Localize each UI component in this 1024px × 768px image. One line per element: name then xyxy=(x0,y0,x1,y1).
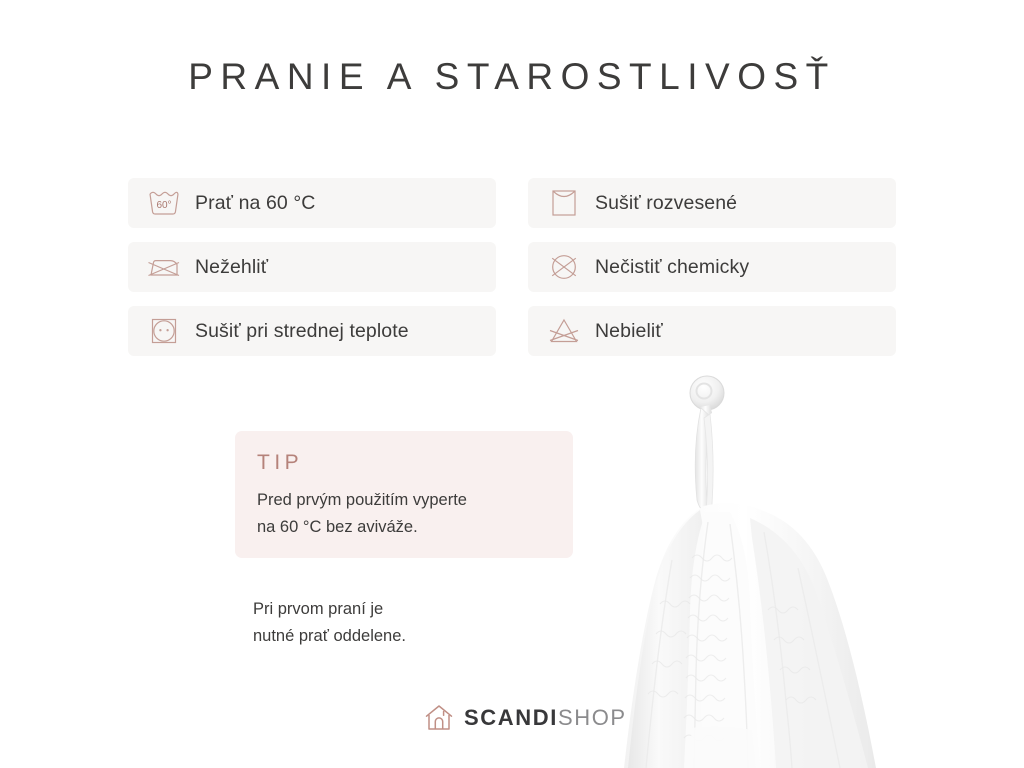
page-title: PRANIE A STAROSTLIVOSŤ xyxy=(0,56,1024,98)
wash-60-icon: 60° xyxy=(145,187,183,219)
logo-text-primary: SCANDI xyxy=(464,705,558,730)
house-icon xyxy=(424,703,454,733)
tip-text-line-2: na 60 °C bez aviváže. xyxy=(257,514,551,541)
care-item-label: Nebieliť xyxy=(595,320,663,343)
note-line-1: Pri prvom praní je xyxy=(253,596,406,623)
care-item-label: Sušiť pri strednej teplote xyxy=(195,320,409,343)
care-item-do-not-bleach: Nebieliť xyxy=(528,306,896,356)
brand-logo: SCANDISHOP xyxy=(424,703,627,733)
note-line-2: nutné prať oddelene. xyxy=(253,623,406,650)
do-not-bleach-icon xyxy=(545,315,583,347)
line-dry-icon xyxy=(545,187,583,219)
care-item-label: Nežehliť xyxy=(195,256,268,279)
care-instructions-grid: 60° Prať na 60 °C Sušiť rozvesené xyxy=(128,178,896,356)
care-instructions-infographic: PRANIE A STAROSTLIVOSŤ 60° Prať na 60 °C xyxy=(0,0,1024,768)
do-not-iron-icon xyxy=(145,251,183,283)
care-item-label: Nečistiť chemicky xyxy=(595,256,749,279)
logo-wordmark: SCANDISHOP xyxy=(464,705,627,731)
towel-product-photo xyxy=(600,372,900,768)
tumble-dry-medium-icon xyxy=(145,315,183,347)
care-item-wash-60: 60° Prať na 60 °C xyxy=(128,178,496,228)
note-block: Pri prvom praní je nutné prať oddelene. xyxy=(253,596,406,650)
wash-temperature-text: 60° xyxy=(156,200,171,211)
care-item-do-not-dryclean: Nečistiť chemicky xyxy=(528,242,896,292)
care-item-line-dry: Sušiť rozvesené xyxy=(528,178,896,228)
care-item-do-not-iron: Nežehliť xyxy=(128,242,496,292)
care-item-label: Prať na 60 °C xyxy=(195,192,315,215)
tip-callout-box: TIP Pred prvým použitím vyperte na 60 °C… xyxy=(235,431,573,558)
care-item-tumble-dry-medium: Sušiť pri strednej teplote xyxy=(128,306,496,356)
do-not-dryclean-icon xyxy=(545,251,583,283)
care-item-label: Sušiť rozvesené xyxy=(595,192,737,215)
tip-text-line-1: Pred prvým použitím vyperte xyxy=(257,487,551,514)
logo-text-secondary: SHOP xyxy=(558,705,627,730)
tip-heading: TIP xyxy=(257,451,551,475)
